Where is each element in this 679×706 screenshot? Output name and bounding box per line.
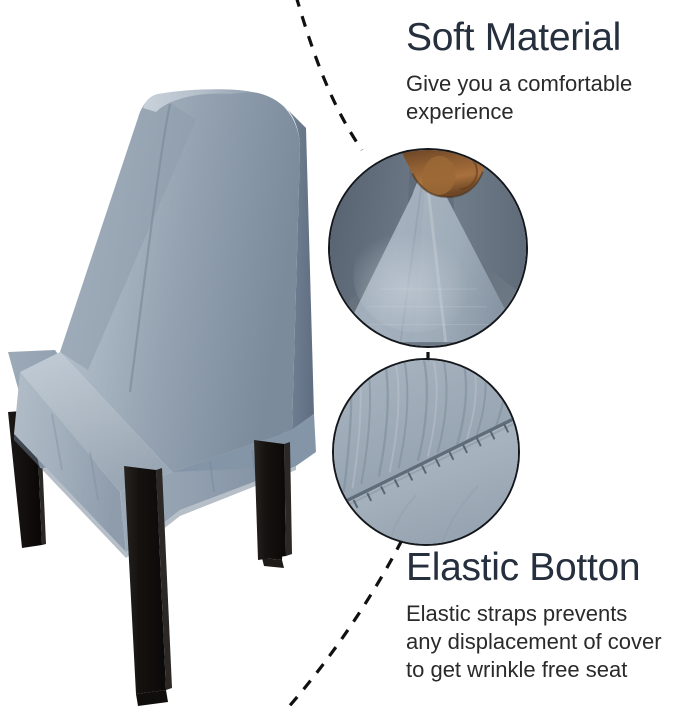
elastic-bottom-detail-illustration [334, 360, 518, 544]
elastic-bottom-callout-circle [332, 358, 520, 546]
soft-material-detail-illustration [330, 150, 526, 346]
soft-material-callout-circle [328, 148, 528, 348]
soft-material-text-block: Soft Material Give you a comfortable exp… [406, 16, 662, 126]
product-infographic: Soft Material Give you a comfortable exp… [0, 0, 679, 706]
soft-material-heading: Soft Material [406, 16, 662, 60]
elastic-bottom-description: Elastic straps prevents any displacement… [406, 600, 662, 684]
elastic-bottom-text-block: Elastic Botton Elastic straps prevents a… [406, 546, 662, 684]
soft-material-sheen [354, 219, 479, 333]
chair-product-image [0, 0, 330, 706]
elastic-bottom-heading: Elastic Botton [406, 546, 662, 590]
soft-material-description: Give you a comfortable experience [406, 70, 662, 126]
chair-illustration [0, 0, 330, 706]
chair-leg-front-right [254, 440, 292, 560]
